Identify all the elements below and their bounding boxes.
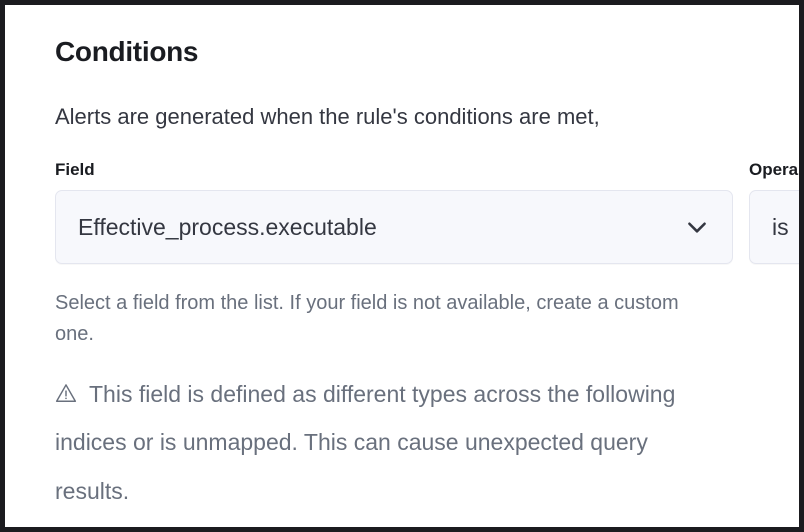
conditions-fields-row: Field Effective_process.executable Opera [55,160,804,264]
operator-select[interactable]: is [749,190,804,264]
chevron-down-icon[interactable] [684,214,710,240]
operator-select-value: is [772,214,804,241]
field-type-warning: This field is defined as different types… [55,370,715,515]
page-title: Conditions [55,36,198,68]
operator-label: Opera [749,160,804,180]
field-select[interactable]: Effective_process.executable [55,190,733,264]
warning-message: This field is defined as different types… [55,381,675,504]
field-label: Field [55,160,733,180]
field-help-text: Select a field from the list. If your fi… [55,288,695,350]
screenshot-frame: Conditions Alerts are generated when the… [0,0,804,532]
field-group-operator: Opera is [749,160,804,264]
conditions-panel: Conditions Alerts are generated when the… [10,10,804,532]
warning-triangle-icon [55,382,77,404]
content-viewport: Conditions Alerts are generated when the… [10,10,804,532]
section-description: Alerts are generated when the rule's con… [55,104,600,130]
field-group-field: Field Effective_process.executable [55,160,733,264]
field-select-value: Effective_process.executable [78,214,672,241]
